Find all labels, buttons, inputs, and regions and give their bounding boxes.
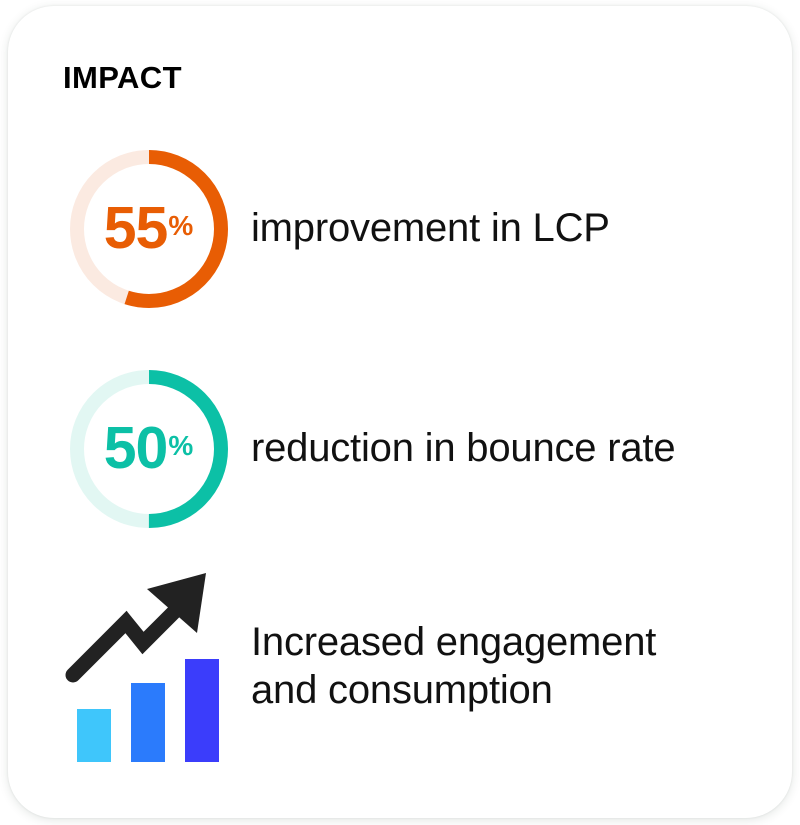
metric-media: 50 % [56,365,241,533]
metric-row-engagement-increase: Increased engagement and consumption [8,564,792,769]
donut-value: 50 [104,419,168,478]
metric-media [56,567,241,767]
bar-2 [131,683,165,762]
page-title: IMPACT [63,62,182,93]
metric-label: improvement in LCP [251,205,610,252]
metric-media: 55 % [56,145,241,313]
bar-3 [185,659,219,762]
metric-row-lcp-improvement: 55 % improvement in LCP [8,139,792,319]
donut-center-label: 55 % [65,145,233,313]
metric-label-line-1: Increased engagement [251,619,656,666]
donut-unit: % [168,212,193,244]
donut-unit: % [168,432,193,464]
metric-label: Increased engagement and consumption [251,619,656,713]
metric-label-line-2: and consumption [251,667,656,714]
donut-progress-icon: 50 % [65,365,233,533]
donut-center-label: 50 % [65,365,233,533]
bar-1 [77,709,111,762]
metric-label: reduction in bounce rate [251,425,675,472]
donut-value: 55 [104,199,168,258]
donut-progress-icon: 55 % [65,145,233,313]
growth-chart-icon [61,567,236,767]
metric-row-bounce-rate-reduction: 50 % reduction in bounce rate [8,359,792,539]
impact-card: IMPACT 55 % improvement in LCP [8,6,792,818]
